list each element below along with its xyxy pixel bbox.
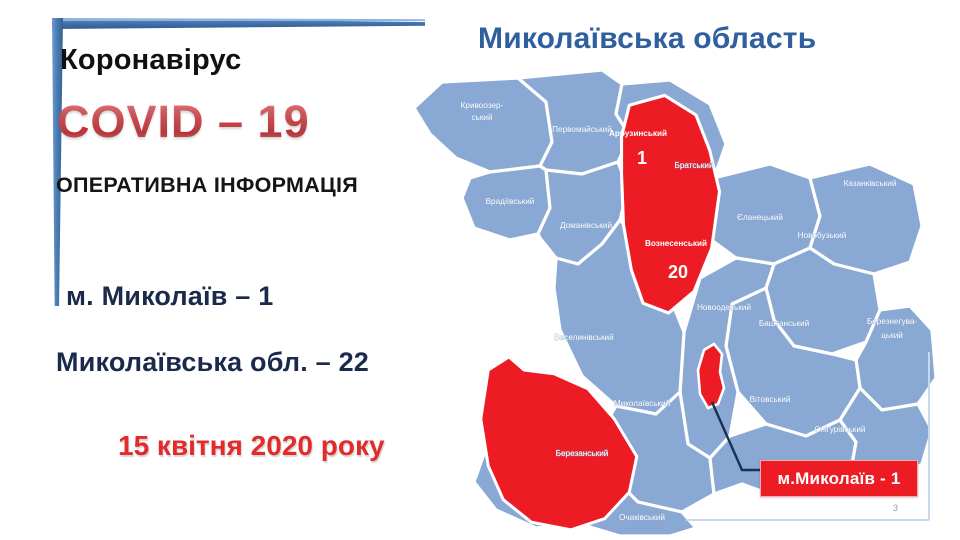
label-berezneguvatskyi-1: Березнегува-	[867, 317, 918, 326]
label-veselynivskyi: Веселинівський	[554, 333, 613, 342]
label-novoodeskyi: Новоодеський	[697, 303, 751, 312]
district-kryvoozerskyi	[414, 78, 552, 172]
label-arbuzynskyi: Арбузинський	[609, 128, 667, 138]
label-vitovskyi: Вітовський	[750, 395, 791, 404]
page-rule-horizontal	[686, 519, 929, 521]
label-snihurivskyi: Снігурівський	[815, 425, 866, 434]
heading-coronavirus: Коронавірус	[60, 44, 400, 77]
callout-label: м.Миколаїв - 1	[777, 469, 900, 489]
label-kazankivskyi: Казанківський	[844, 179, 897, 188]
city-mykolaiv-shape	[698, 344, 724, 408]
label-berezanskyi: Березанський	[556, 449, 609, 458]
label-ochakivskyi: Очаківський	[619, 513, 665, 522]
label-bashtanskyi: Баштанський	[759, 319, 809, 328]
cases-voznesenskyi: 20	[668, 262, 688, 282]
label-kryvoozerskyi-1: Кривоозер-	[461, 101, 504, 110]
label-novobuzkyi: Новобузький	[798, 231, 847, 240]
frame-top-bar-highlight	[52, 18, 425, 21]
label-bratskyi: Братський	[674, 161, 713, 170]
page-title-covid19: COVID – 19	[57, 96, 417, 148]
label-yelanetskyi: Єланецький	[737, 213, 783, 222]
slide: Коронавірус COVID – 19 ОПЕРАТИВНА ІНФОРМ…	[0, 0, 960, 540]
map-title: Миколаївська область	[478, 22, 816, 56]
label-kryvoozerskyi-2: ський	[471, 113, 492, 122]
page-rule-vertical	[928, 352, 930, 520]
label-voznesenskyi: Вознесенський	[645, 239, 707, 248]
page-number: 3	[893, 503, 898, 513]
callout-mykolaiv-city: м.Миколаїв - 1	[760, 460, 918, 497]
label-mykolaivskyi: Миколаївський	[614, 399, 670, 408]
label-pervomaiskyi: Первомайський	[552, 125, 612, 134]
label-berezneguvatskyi-2: цький	[881, 331, 903, 340]
cases-arbuzynskyi: 1	[637, 148, 647, 168]
label-domanivskyi: Доманівський	[560, 221, 612, 230]
label-vradiivskyi: Врадіївський	[486, 197, 535, 206]
